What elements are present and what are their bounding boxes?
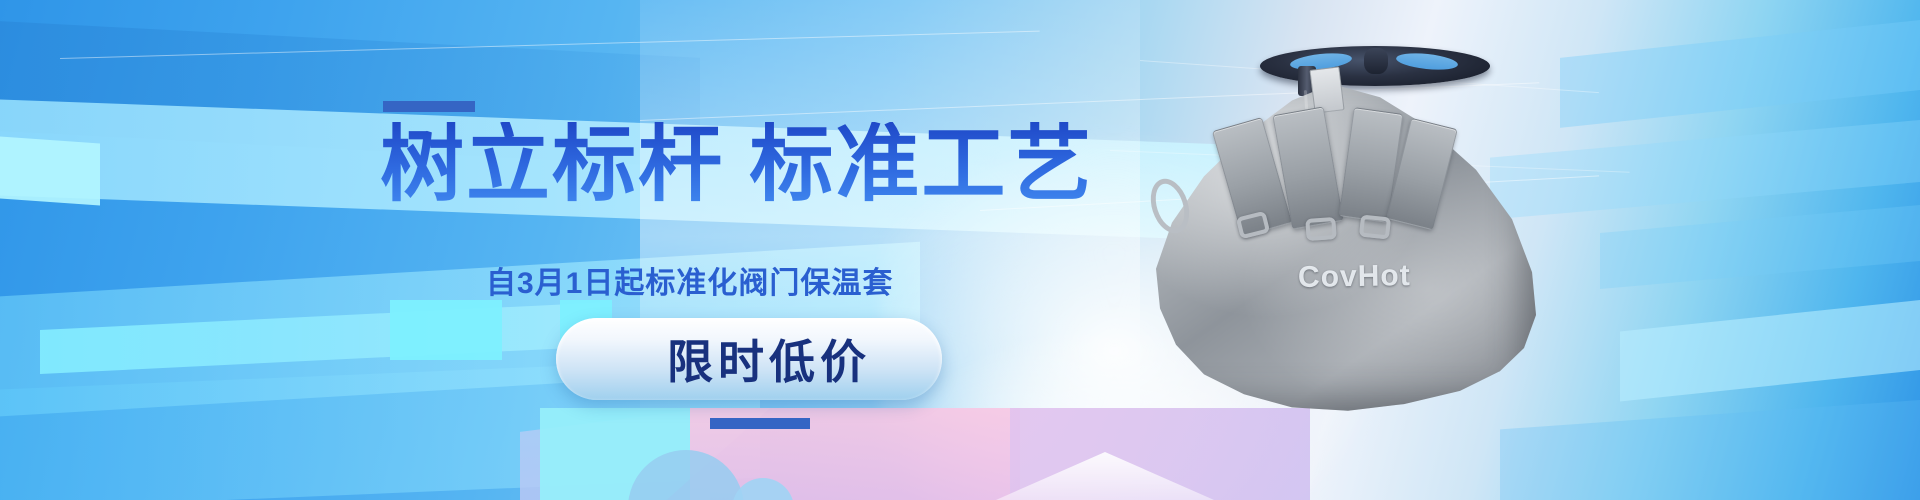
right-band-4 xyxy=(1620,300,1920,402)
right-band-1 xyxy=(1560,20,1920,128)
jacket-buckle-2 xyxy=(1305,217,1336,241)
accent-bar-bottom xyxy=(710,418,810,429)
product-image-valve-jacket: CovHot xyxy=(1130,18,1550,418)
subtitle-text: 自3月1日起标准化阀门保温套 xyxy=(486,258,893,302)
accent-bar-top xyxy=(383,101,475,112)
insulation-jacket-body xyxy=(1140,84,1540,414)
banner-content: 树立标杆 标准工艺 自3月1日起标准化阀门保温套 限时低价 xyxy=(0,0,1150,500)
product-brand-mark: CovHot xyxy=(1298,259,1411,295)
jacket-buckle-3 xyxy=(1359,214,1391,239)
right-band-3 xyxy=(1600,205,1920,289)
page-title: 树立标杆 标准工艺 xyxy=(380,122,1100,206)
jacket-label-tag xyxy=(1309,66,1344,113)
cta-button-label: 限时低价 xyxy=(627,326,871,392)
right-band-2 xyxy=(1490,120,1920,220)
cta-button[interactable]: 限时低价 xyxy=(556,318,942,400)
handwheel-hub xyxy=(1364,48,1388,74)
right-band-5 xyxy=(1500,400,1920,500)
valve-handwheel xyxy=(1260,38,1490,98)
promo-banner: 树立标杆 标准工艺 自3月1日起标准化阀门保温套 限时低价 CovHot xyxy=(0,0,1920,500)
